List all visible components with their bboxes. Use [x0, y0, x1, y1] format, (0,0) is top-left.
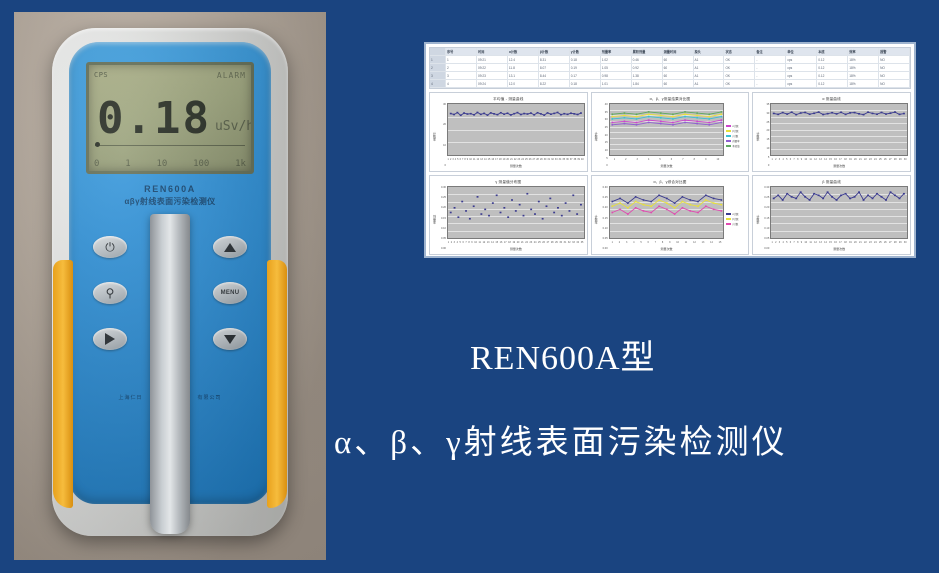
chart-y-tick: 0: [768, 165, 769, 168]
chart-x-tick: 3: [626, 241, 627, 244]
chart-marker: [465, 210, 467, 212]
table-cell: 18%: [848, 56, 879, 63]
chart-x-tick: 20: [506, 158, 509, 161]
product-photo: CPS ALARM 0.18 uSv/h 0 1 10 100 1k: [14, 12, 326, 560]
chart-legend-label: α计数: [732, 124, 738, 128]
chart-legend-label: β计数: [732, 129, 738, 133]
chart-panel: α、β、γ测量结果对比图计数率4035302520151050123456789…: [591, 92, 750, 172]
chart-marker: [635, 196, 637, 198]
chart-x-tick: 25: [525, 158, 528, 161]
chart-y-tick: 0.20: [441, 207, 446, 210]
chart-marker: [836, 199, 838, 201]
chart-x-tick: 25: [879, 158, 882, 161]
chart-x-tick: 14: [484, 158, 487, 161]
chart-panel: γ 测量值分布图剂量率0.300.250.200.150.100.050.001…: [429, 175, 588, 255]
chart-x-tick: 30: [904, 158, 907, 161]
chart-x-tick: 8: [797, 241, 798, 244]
table-cell: cps: [786, 64, 817, 71]
chart-marker: [666, 198, 668, 200]
chart-x-tick: 8: [464, 158, 465, 161]
chart-marker: [500, 112, 502, 114]
chart-marker: [720, 116, 722, 118]
chart-marker: [611, 118, 613, 120]
chart-plot-area: [609, 186, 725, 239]
chart-marker: [890, 191, 892, 193]
chart-marker: [858, 191, 860, 193]
chart-x-tick: 19: [849, 158, 852, 161]
table-cell: NO: [879, 72, 910, 79]
chart-x-tick: 9: [669, 241, 670, 244]
chart-marker: [580, 112, 582, 114]
table-cell: 11.8: [508, 64, 539, 71]
chart-x-tick: 11: [809, 158, 811, 161]
chart-marker: [557, 112, 559, 114]
table-cell: 0.12: [817, 56, 848, 63]
chart-marker: [712, 209, 714, 211]
chart-marker: [572, 194, 574, 196]
chart-y-tick: 5: [768, 157, 769, 160]
lcd-scale-tick: 100: [193, 159, 209, 169]
chart-x-tick: 17: [839, 158, 842, 161]
chart-x-tick: 28: [551, 241, 554, 244]
table-row[interactable]: 4409:2412.08.220.181.011.8460A1OK-cps0.1…: [430, 80, 910, 88]
chart-x-tick: 20: [854, 158, 857, 161]
chart-marker: [660, 117, 662, 119]
menu-button[interactable]: MENU: [213, 282, 247, 304]
table-cell: 18%: [848, 80, 879, 87]
table-cell: 18%: [848, 64, 879, 71]
chart-marker: [696, 123, 698, 125]
chart-legend-swatch: [726, 140, 731, 143]
chart-marker: [490, 112, 492, 114]
chart-x-tick: 2: [775, 241, 776, 244]
chart-x-tick: 2: [775, 158, 776, 161]
chart-x-tick: 9: [801, 158, 802, 161]
chart-x-tick: 23: [530, 241, 533, 244]
chart-x-tick: 9: [705, 158, 706, 161]
chart-x-ticks: 1234567891011121314151617181920212223242…: [447, 156, 585, 163]
chart-marker: [550, 113, 552, 115]
chart-marker: [814, 112, 816, 114]
chart-x-tick: 26: [529, 158, 532, 161]
chart-x-tick: 6: [462, 241, 463, 244]
chart-marker: [546, 205, 548, 207]
table-cell: 0.92: [632, 64, 663, 71]
chart-legend-item: γ计数: [726, 222, 746, 226]
chart-marker: [515, 210, 517, 212]
chart-marker: [708, 116, 710, 118]
table-cell: 1.05: [601, 64, 632, 71]
chart-marker: [517, 112, 519, 114]
table-header-cell: 剂量率: [601, 48, 632, 55]
chart-y-ticks: 0.300.250.200.150.100.050.00: [437, 186, 447, 252]
chart-x-tick: 5: [659, 158, 660, 161]
chart-marker: [553, 113, 555, 115]
table-header-cell: 探头: [694, 48, 725, 55]
chart-title: β 测量曲线: [755, 178, 908, 186]
chart-y-tick: 20: [443, 124, 446, 127]
table-cell: 0.98: [601, 72, 632, 79]
table-row[interactable]: 1109:2112.48.310.181.020.4660A1OK-cps0.1…: [430, 56, 910, 64]
chart-x-tick: 15: [829, 241, 832, 244]
chart-x-tick: 16: [500, 241, 503, 244]
chart-marker: [684, 119, 686, 121]
chart-x-tick: 34: [576, 241, 579, 244]
chart-marker: [885, 199, 887, 201]
chart-x-tick: 29: [899, 158, 902, 161]
power-button[interactable]: ⏻: [93, 236, 127, 258]
chart-marker: [697, 201, 699, 203]
chart-marker: [619, 198, 621, 200]
chart-marker: [648, 116, 650, 118]
chart-x-tick: 10: [804, 241, 807, 244]
chart-y-tick: 30: [766, 113, 769, 116]
chart-series-svg: [771, 187, 907, 238]
chart-marker: [689, 210, 691, 212]
chart-x-tick: 6: [671, 158, 672, 161]
chart-legend: α计数β计数γ计数剂量率本底值: [724, 103, 746, 169]
chart-marker: [840, 112, 842, 114]
chart-marker: [809, 199, 811, 201]
chart-y-tick: 40: [605, 104, 608, 107]
chart-marker: [800, 191, 802, 193]
chart-x-ticks: 12345678910: [609, 156, 725, 163]
chart-marker: [533, 114, 535, 116]
chart-marker: [530, 209, 532, 211]
chart-x-tick: 31: [564, 241, 567, 244]
chart-x-tick: 17: [504, 241, 507, 244]
table-cell: 1.38: [632, 72, 663, 79]
chart-y-tick: 0.00: [441, 248, 446, 251]
table-row[interactable]: 2209:2211.88.070.191.050.9260A1OK-cps0.1…: [430, 64, 910, 72]
chart-marker: [809, 113, 811, 115]
chart-x-ticks: 1234567891011121314151617181920212223242…: [770, 156, 908, 163]
chart-marker: [650, 205, 652, 207]
chart-x-tick: 34: [559, 158, 562, 161]
chart-marker: [623, 123, 625, 125]
chart-panel: 平均值 - 测量曲线计数率302010012345678910111213141…: [429, 92, 588, 172]
table-cell: -: [755, 56, 786, 63]
chart-y-tick: 15: [605, 142, 608, 145]
chart-x-tick: 18: [844, 241, 847, 244]
chart-marker: [903, 193, 905, 195]
table-header-cell: 状态: [724, 48, 755, 55]
chart-marker: [530, 112, 532, 114]
chart-x-tick: 26: [542, 241, 545, 244]
chart-x-tick: 18: [844, 158, 847, 161]
chart-plot-area: [447, 103, 585, 156]
chart-marker: [547, 112, 549, 114]
chart-legend-swatch: [726, 125, 731, 128]
chart-plot-wrap: 1234567891011121314151617181920212223242…: [770, 186, 908, 252]
right-button[interactable]: [93, 328, 127, 350]
chart-marker: [697, 205, 699, 207]
chart-marker: [673, 213, 675, 215]
chart-legend-swatch: [726, 130, 731, 133]
chart-marker: [696, 112, 698, 114]
chart-marker: [672, 116, 674, 118]
chart-marker: [696, 115, 698, 117]
table-cell: A1: [694, 64, 725, 71]
chart-x-tick: 27: [532, 158, 535, 161]
chart-marker: [650, 201, 652, 203]
chart-x-tick: 15: [719, 241, 722, 244]
table-cell: A1: [694, 80, 725, 87]
chart-marker: [507, 112, 509, 114]
lcd-scale-tick: 0: [94, 159, 99, 169]
chart-y-tick: 0: [445, 165, 446, 168]
chart-marker: [450, 113, 452, 115]
chart-x-tick: 29: [540, 158, 543, 161]
chart-x-tick: 3: [454, 241, 455, 244]
chart-marker: [553, 212, 555, 214]
chart-marker: [486, 114, 488, 116]
chart-marker: [684, 116, 686, 118]
chart-y-tick: 0.30: [603, 187, 608, 190]
chart-x-axis-label: 测量次数: [609, 246, 725, 252]
chart-x-tick: 5: [457, 158, 458, 161]
chart-marker: [611, 116, 613, 118]
chart-marker: [513, 113, 515, 115]
chart-x-tick: 7: [465, 241, 466, 244]
chart-marker: [805, 112, 807, 114]
table-header-cell: 序号: [446, 48, 477, 55]
chart-x-tick: 16: [491, 158, 494, 161]
chart-marker: [611, 205, 613, 207]
chart-x-tick: 35: [562, 158, 565, 161]
table-header-cell: 效率: [848, 48, 879, 55]
chart-legend-label: 本底值: [732, 144, 739, 148]
chart-x-tick: 5: [460, 241, 461, 244]
table-cell: 1.02: [601, 56, 632, 63]
chart-marker: [858, 113, 860, 115]
chart-marker: [814, 193, 816, 195]
chart-x-tick: 15: [495, 241, 498, 244]
chart-marker: [549, 198, 551, 200]
chart-x-tick: 5: [786, 241, 787, 244]
chart-title: γ 测量值分布图: [432, 178, 585, 186]
device-hand-strap: [150, 214, 190, 534]
chart-y-tick: 25: [766, 122, 769, 125]
chart-x-tick: 4: [457, 241, 458, 244]
chart-plot-area: [609, 103, 725, 156]
chart-marker: [894, 111, 896, 113]
table-cell: A1: [694, 56, 725, 63]
chart-marker: [791, 196, 793, 198]
search-button[interactable]: ⚲: [93, 282, 127, 304]
chart-x-tick: 12: [814, 241, 817, 244]
chart-marker: [673, 202, 675, 204]
table-cell: 4: [446, 80, 477, 87]
chart-marker: [450, 212, 452, 214]
chart-plot-wrap: 1234567891011121314151617181920212223242…: [770, 103, 908, 169]
chart-x-tick: 13: [819, 158, 822, 161]
table-cell: 0.46: [632, 56, 663, 63]
table-cell: 60: [663, 72, 694, 79]
chart-line: [774, 112, 904, 115]
chart-marker: [540, 113, 542, 115]
chart-x-tick: 33: [555, 158, 558, 161]
chart-marker: [836, 113, 838, 115]
chart-series-svg: [448, 187, 584, 238]
chart-x-tick: 11: [809, 241, 811, 244]
chart-x-tick: 9: [801, 241, 802, 244]
chart-marker: [560, 114, 562, 116]
chart-marker: [565, 202, 567, 204]
chart-marker: [611, 113, 613, 115]
chart-marker: [796, 114, 798, 116]
chart-x-tick: 29: [555, 241, 558, 244]
chart-marker: [708, 113, 710, 115]
table-row-header: 4: [430, 80, 446, 87]
chart-marker: [705, 194, 707, 196]
lcd-top-row: CPS ALARM: [94, 68, 246, 82]
table-cell: 12.4: [508, 56, 539, 63]
chart-x-tick: 31: [547, 158, 550, 161]
chart-marker: [642, 199, 644, 201]
chart-marker: [800, 112, 802, 114]
chart-marker: [885, 113, 887, 115]
table-cell: -: [755, 80, 786, 87]
chart-marker: [899, 114, 901, 116]
chart-x-tick: 24: [521, 158, 524, 161]
chart-x-tick: 33: [572, 241, 575, 244]
chart-marker: [696, 120, 698, 122]
chart-y-tick: 5: [606, 158, 607, 161]
chart-x-tick: 3: [637, 158, 638, 161]
chart-x-axis-label: 测量次数: [447, 163, 585, 169]
chart-marker: [720, 199, 722, 201]
chart-marker: [689, 204, 691, 206]
chart-legend-label: γ计数: [732, 222, 738, 226]
chart-x-tick: 24: [874, 158, 877, 161]
chart-marker: [684, 122, 686, 124]
chart-x-tick: 23: [869, 241, 872, 244]
chart-x-tick: 1: [771, 158, 772, 161]
chart-marker: [648, 111, 650, 113]
chart-x-tick: 27: [547, 241, 550, 244]
chart-legend-swatch: [726, 213, 731, 216]
chart-legend-label: α计数: [732, 212, 738, 216]
chart-marker: [708, 124, 710, 126]
table-cell: 3: [446, 72, 477, 79]
chart-y-ticks: 3020100: [437, 103, 447, 169]
chart-x-tick: 9: [471, 241, 472, 244]
table-cell: 09:21: [477, 56, 508, 63]
chart-marker: [876, 113, 878, 115]
chart-x-tick: 24: [534, 241, 537, 244]
table-cell: OK: [724, 80, 755, 87]
chart-body: 计数率0.300.250.200.150.100.050.00123456789…: [594, 186, 747, 252]
chart-x-tick: 11: [473, 158, 475, 161]
chart-marker: [493, 113, 495, 115]
table-row[interactable]: 3309:2313.18.440.170.981.3860A1OK-cps0.1…: [430, 72, 910, 80]
chart-marker: [672, 113, 674, 115]
chart-marker: [672, 118, 674, 120]
table-cell: 1.84: [632, 80, 663, 87]
chart-marker: [519, 204, 521, 206]
chart-marker: [510, 114, 512, 116]
chart-x-tick: 23: [869, 158, 872, 161]
chart-y-tick: 0.30: [764, 187, 769, 190]
chart-marker: [611, 212, 613, 214]
chart-marker: [648, 122, 650, 124]
chart-x-tick: 14: [491, 241, 494, 244]
lcd-scale-labels: 0 1 10 100 1k: [94, 159, 246, 169]
chart-x-tick: 20: [517, 241, 520, 244]
chart-marker: [773, 113, 775, 115]
chart-x-axis-label: 测量次数: [770, 163, 908, 169]
chart-x-tick: 1: [448, 241, 449, 244]
chart-legend: α计数β计数γ计数: [724, 186, 746, 252]
table-header-cell: 累积剂量: [632, 48, 663, 55]
up-button[interactable]: [213, 236, 247, 258]
table-row-header: 2: [430, 64, 446, 71]
chart-y-tick: 0.10: [603, 228, 608, 231]
chart-y-tick: 15: [766, 139, 769, 142]
chart-x-tick: 4: [455, 158, 456, 161]
chart-x-tick: 30: [544, 158, 547, 161]
chart-x-tick: 16: [834, 241, 837, 244]
down-button[interactable]: [213, 328, 247, 350]
chart-marker: [469, 218, 471, 220]
chart-body: 计数率3020100123456789101112131415161718192…: [432, 103, 585, 169]
chart-marker: [720, 204, 722, 206]
chart-x-tick: 10: [676, 241, 679, 244]
chart-marker: [523, 215, 525, 217]
menu-button-label: MENU: [221, 290, 240, 296]
chart-marker: [787, 113, 789, 115]
table-cell: 1.01: [601, 80, 632, 87]
chart-marker: [476, 112, 478, 114]
chart-marker: [570, 112, 572, 114]
chart-x-tick: 19: [849, 241, 852, 244]
product-title-line1: REN600A型: [470, 330, 656, 379]
chart-plot-wrap: 123456789101112131415测量次数: [609, 186, 725, 252]
lcd-display: CPS ALARM 0.18 uSv/h 0 1 10 100 1k: [86, 62, 254, 174]
table-cell: 8.22: [539, 80, 570, 87]
lcd-scale-tick: 10: [156, 159, 167, 169]
chart-marker: [831, 112, 833, 114]
chart-marker: [580, 204, 582, 206]
table-cell: -: [755, 64, 786, 71]
chart-marker: [635, 113, 637, 115]
chart-x-tick: 10: [474, 241, 477, 244]
chart-marker: [818, 111, 820, 113]
table-header-cell: 备注: [755, 48, 786, 55]
table-cell: 8.44: [539, 72, 570, 79]
chart-marker: [854, 196, 856, 198]
chart-x-tick: 8: [694, 158, 695, 161]
table-cell: OK: [724, 64, 755, 71]
chart-title: α、β、γ综合对比图: [594, 178, 747, 186]
chart-y-tick: 0.25: [764, 197, 769, 200]
chart-x-tick: 13: [702, 241, 705, 244]
chart-marker: [635, 118, 637, 120]
power-icon: ⏻: [105, 240, 115, 255]
chart-marker: [658, 205, 660, 207]
table-header-cell: 时间: [477, 48, 508, 55]
table-row-header: 1: [430, 56, 446, 63]
chart-marker: [818, 194, 820, 196]
chart-marker: [673, 207, 675, 209]
chart-marker: [720, 122, 722, 124]
chart-marker: [689, 199, 691, 201]
chart-marker: [863, 114, 865, 116]
chart-x-tick: 6: [460, 158, 461, 161]
table-header-cell: 测量时间: [663, 48, 694, 55]
table-cell: 8.07: [539, 64, 570, 71]
